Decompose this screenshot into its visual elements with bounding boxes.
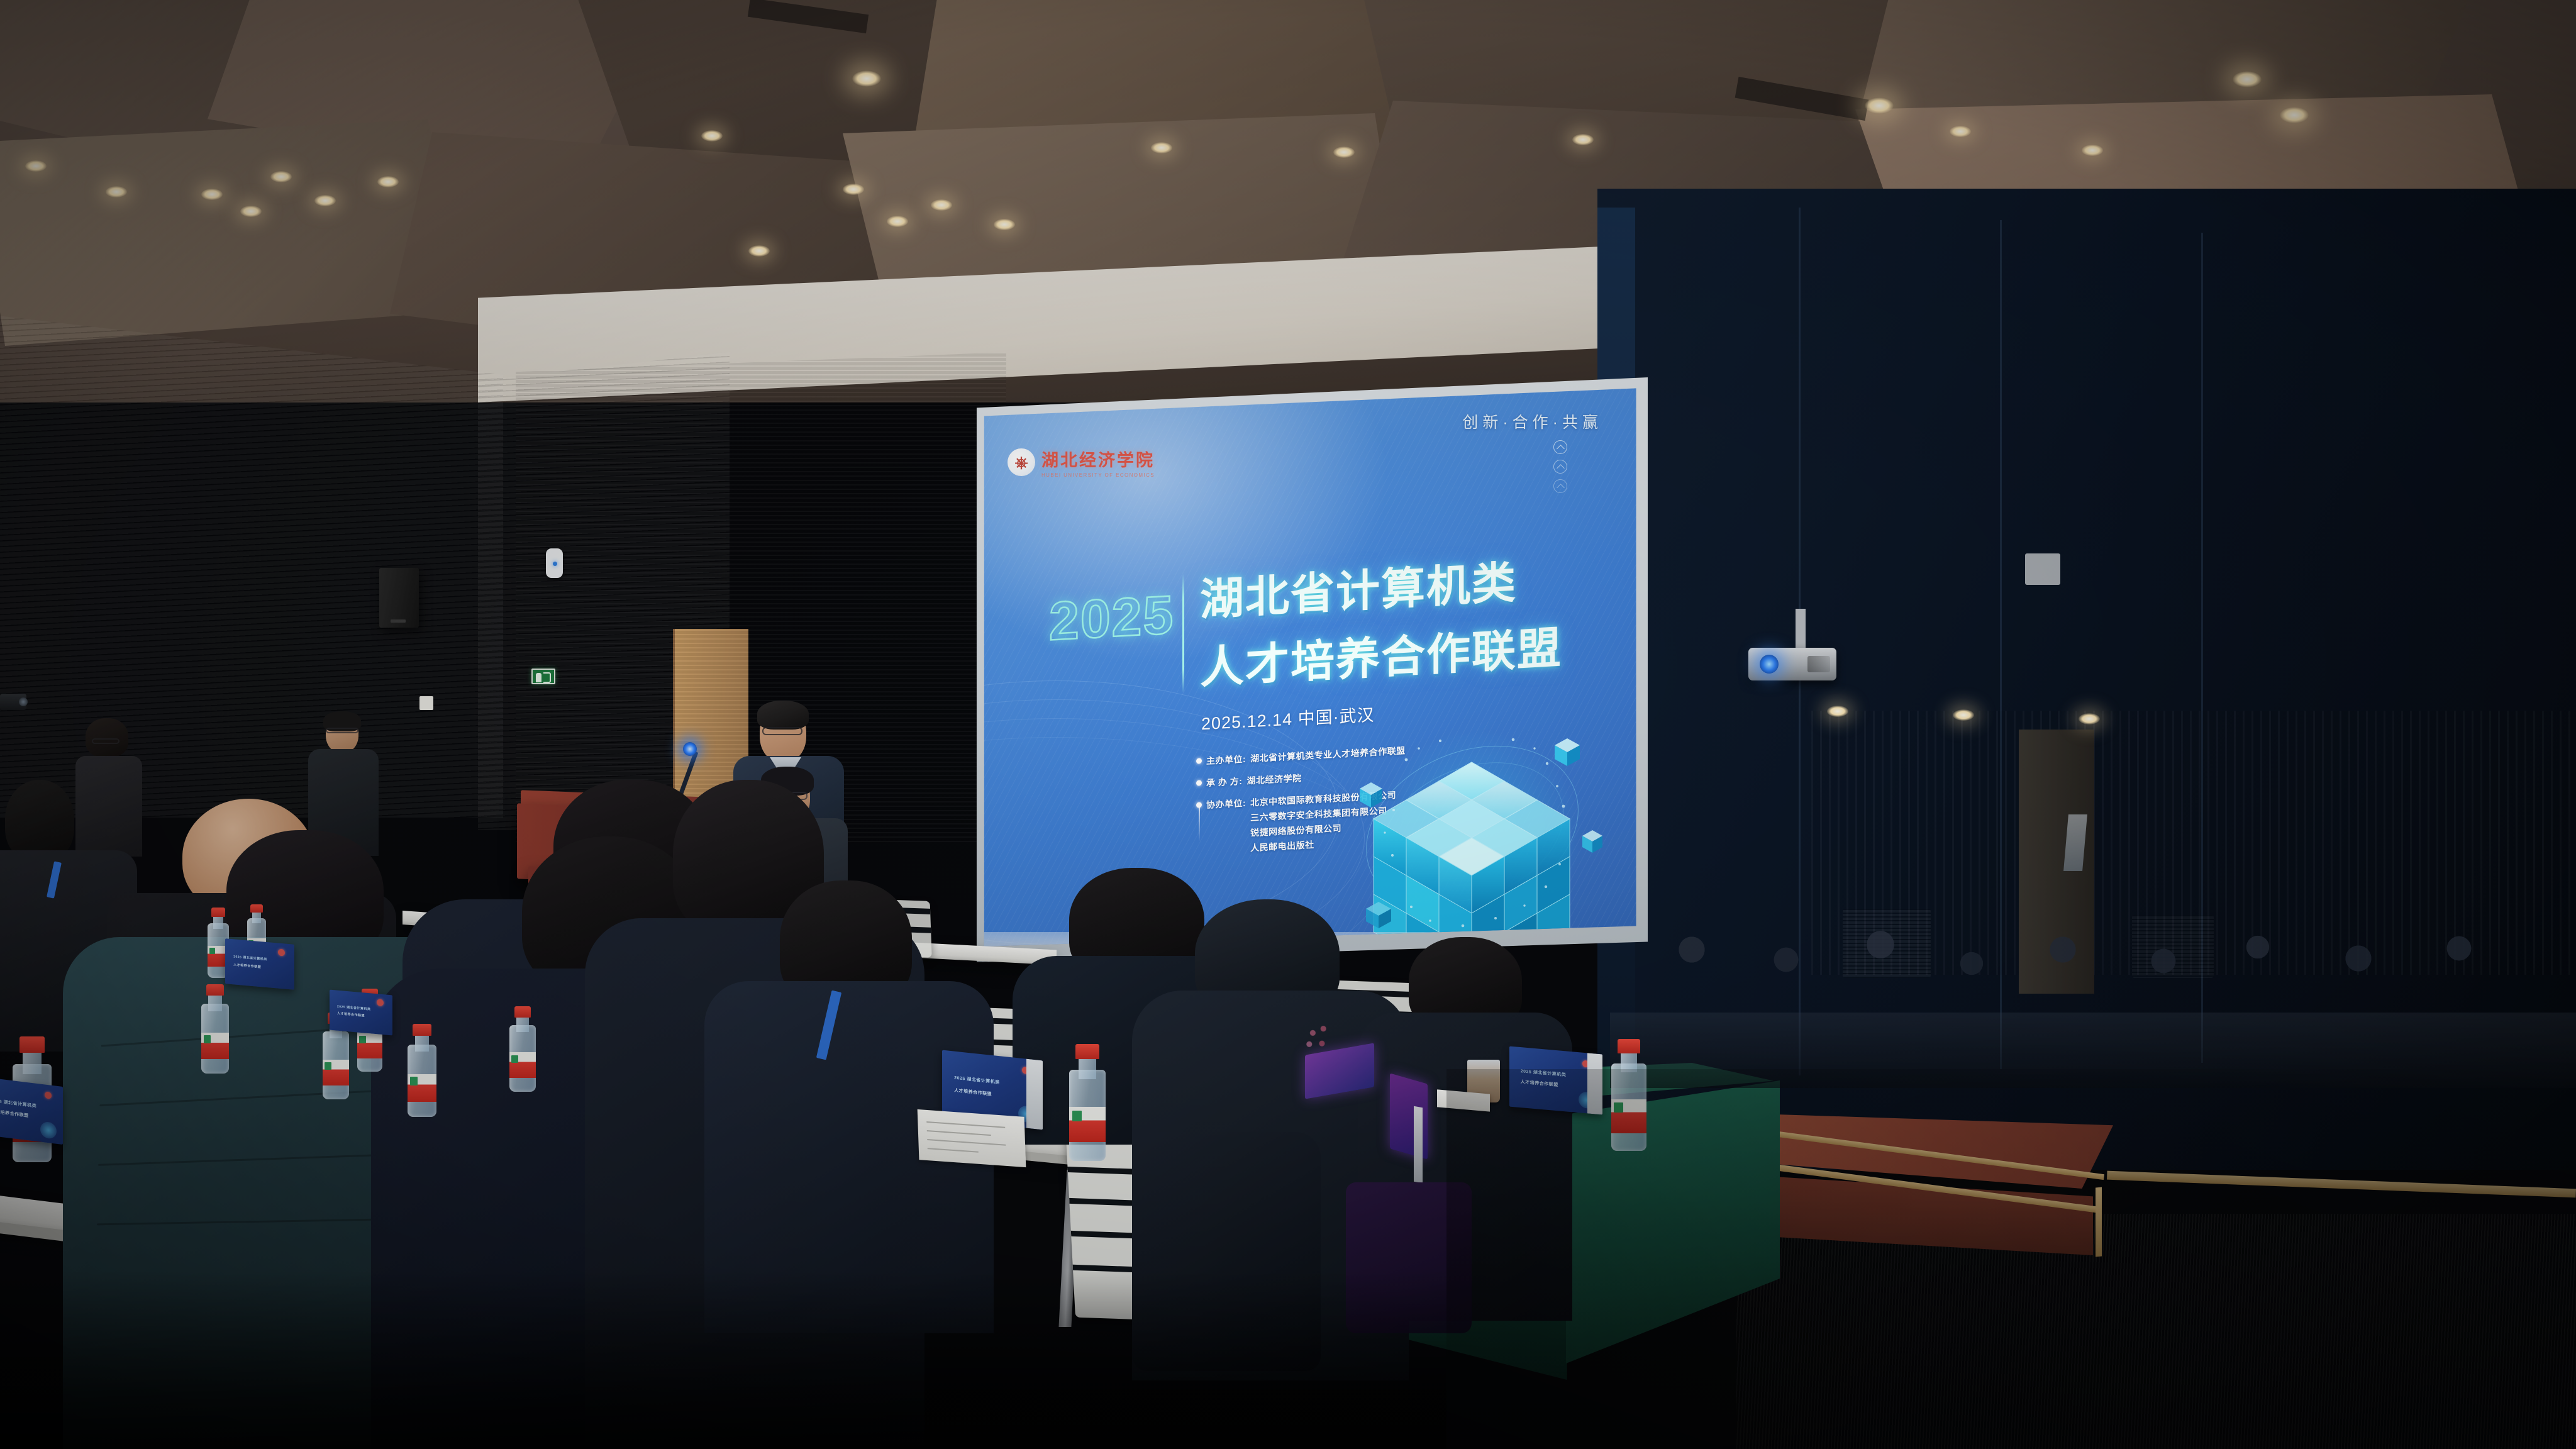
title-divider [1182, 574, 1184, 693]
ceiling-downlight [1950, 126, 1971, 137]
ceiling-downlight [887, 216, 908, 227]
name-card-line1: 2025 湖北省计算机类 [337, 1004, 371, 1011]
speaker-glasses-icon [762, 727, 802, 735]
name-card-tent[interactable]: 2025 湖北省计算机类 人才培养合作联盟 [330, 990, 392, 1036]
organizer-label: 协办单位: [1206, 797, 1246, 811]
water-bottle[interactable] [1611, 1039, 1646, 1151]
water-bottle[interactable] [201, 984, 229, 1074]
back-wall-downlight [1953, 709, 1974, 721]
university-seal-icon: ⎈ [1008, 448, 1035, 476]
speaker-hair [757, 701, 809, 730]
seated-person-blue-lanyard [730, 880, 969, 1321]
name-card-backing [1026, 1059, 1043, 1130]
exit-sign [531, 669, 555, 684]
ceiling-downlight [2233, 71, 2262, 87]
bullet-icon [1196, 780, 1202, 786]
slide-surface: ⎈ 湖北经济学院 HUBEI UNIVERSITY OF ECONOMICS 创… [975, 385, 1641, 951]
far-audience-table [1610, 1013, 2576, 1088]
bullet-icon [1196, 758, 1202, 763]
water-bottle[interactable] [408, 1024, 436, 1117]
water-bottle[interactable] [1069, 1044, 1106, 1161]
back-wall-downlight [1827, 706, 1848, 717]
wall-panel-white [2025, 553, 2060, 585]
name-card-line2: 人才培养合作联盟 [954, 1087, 992, 1097]
name-card-backing [1587, 1053, 1602, 1114]
ceiling-downlight [240, 206, 262, 217]
ceiling-downlight [1151, 142, 1172, 153]
tablet-stand [1414, 1106, 1423, 1183]
person-glasses-icon [326, 728, 358, 733]
ceiling-downlight [314, 195, 336, 206]
organizer-value-line: 湖北经济学院 [1246, 772, 1301, 787]
ceiling-downlight [106, 186, 127, 197]
ceiling-downlight [994, 219, 1015, 230]
back-wall-downlight [2079, 713, 2100, 724]
chevron-up-icon [1553, 479, 1567, 493]
university-logo-en: HUBEI UNIVERSITY OF ECONOMICS [1041, 472, 1155, 478]
person-head-hair [5, 780, 74, 862]
chevron-icon-group [1553, 440, 1567, 493]
name-card-line2: 人才培养合作联盟 [337, 1011, 365, 1018]
stage-baseboard-trim [2107, 1171, 2576, 1198]
water-bottle[interactable] [509, 1006, 536, 1092]
organizer-stem [1199, 805, 1200, 841]
ceiling-downlight [25, 160, 47, 172]
slide-year: 2025 [1049, 587, 1174, 648]
name-card-tent-green-table[interactable]: 2025 湖北省计算机类 人才培养合作联盟 [1509, 1046, 1602, 1115]
ceiling-downlight [1333, 147, 1355, 158]
ceiling-downlight [852, 70, 881, 87]
name-card-logo-icon [377, 999, 384, 1006]
name-card-line1: 2025 湖北省计算机类 [954, 1075, 1000, 1086]
embroidery-detail [1299, 1019, 1334, 1054]
projector-lens-icon [1760, 655, 1779, 674]
microphone-indicator-icon [683, 742, 697, 756]
ceiling-downlight [931, 199, 952, 211]
slide-slogan: 创新·合作·共赢 [1462, 410, 1602, 433]
ceiling-downlight [748, 245, 770, 257]
stage-platform [1723, 1113, 2576, 1327]
ceiling-downlight [701, 130, 723, 142]
university-logo: ⎈ 湖北经济学院 HUBEI UNIVERSITY OF ECONOMICS [1008, 447, 1155, 478]
chevron-up-icon [1553, 460, 1567, 474]
conference-hall-photo: ⎈ 湖北经济学院 HUBEI UNIVERSITY OF ECONOMICS 创… [0, 0, 2576, 1449]
camera-lens-icon [19, 697, 28, 706]
ceiling-downlight [1572, 134, 1594, 145]
ceiling-projector[interactable] [1748, 648, 1836, 680]
ceiling-downlight [1865, 97, 1894, 114]
ceiling-downlight [2280, 107, 2309, 123]
name-card-line2: 人才培养合作联盟 [233, 963, 261, 970]
wall-speaker [379, 568, 419, 628]
handbag [1346, 1182, 1472, 1333]
name-card-line1: 2025 湖北省计算机类 [1521, 1068, 1567, 1078]
name-card-tent[interactable]: 2025 湖北省计算机类 人才培养合作联盟 [0, 1077, 63, 1145]
name-card-logo-icon [45, 1091, 52, 1099]
name-card-line2: 人才培养合作联盟 [1521, 1079, 1558, 1088]
ceiling-downlight [201, 189, 223, 200]
ceiling-downlight [377, 176, 399, 187]
organizer-label: 承 办 方: [1206, 775, 1242, 789]
name-card-line1: 2025 湖北省计算机类 [233, 955, 267, 962]
chevron-up-icon [1553, 440, 1567, 454]
wall-outlet[interactable] [419, 696, 433, 710]
organizer-value: 湖北经济学院 [1246, 772, 1301, 790]
name-card-logo-icon [278, 948, 285, 956]
name-card-line2: 人才培养合作联盟 [0, 1108, 29, 1119]
ceiling-downlight [2082, 145, 2103, 156]
name-card-tent[interactable]: 2025 湖北省计算机类 人才培养合作联盟 [225, 938, 294, 990]
handout-paper[interactable] [918, 1109, 1026, 1167]
organizer-label: 主办单位: [1206, 753, 1246, 767]
person-glasses-icon [92, 738, 119, 744]
ceiling-downlight [843, 184, 864, 195]
name-card-cube-icon [40, 1121, 57, 1139]
person-hair [86, 718, 128, 757]
university-logo-cn: 湖北经济学院 [1041, 451, 1155, 470]
ceiling-downlight [270, 171, 292, 182]
name-card-line1: 2025 湖北省计算机类 [0, 1097, 36, 1109]
backpack [1132, 1132, 1321, 1371]
stage-brass-edge [2096, 1187, 2102, 1257]
projector-mount [1796, 609, 1806, 653]
